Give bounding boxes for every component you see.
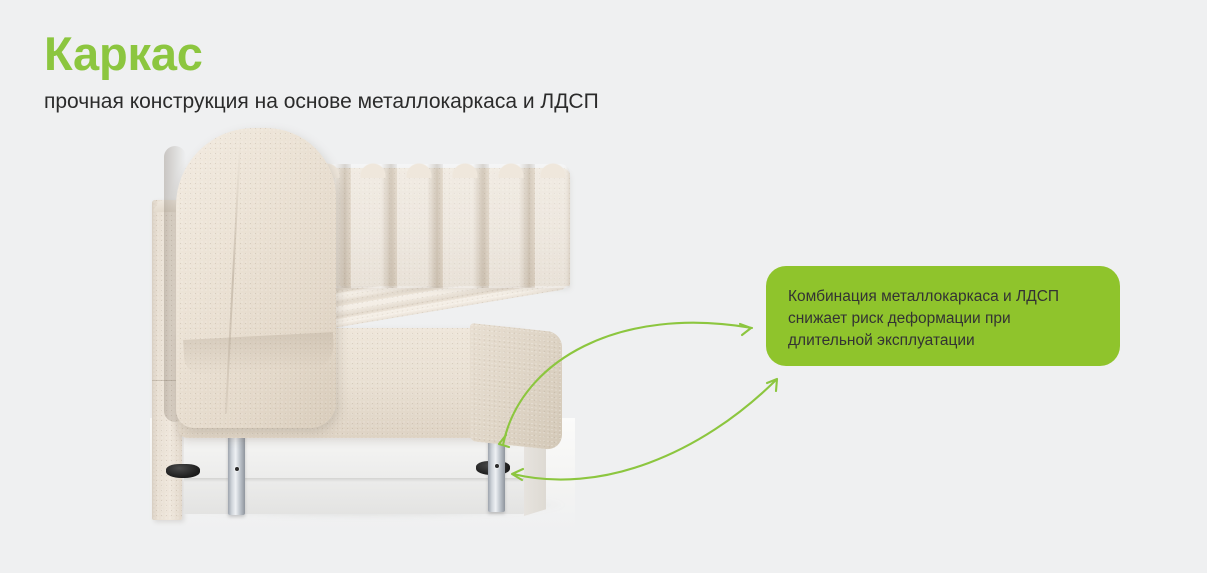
- arrow-lower-head-end: [767, 379, 777, 391]
- callout-box: Комбинация металлокаркаса и ЛДСП снижает…: [766, 266, 1120, 366]
- back-cushion: [176, 128, 336, 428]
- slide-canvas: Каркас прочная конструкция на основе мет…: [0, 0, 1207, 573]
- fabric-texture: [470, 323, 562, 451]
- fabric-texture: [176, 128, 336, 428]
- page-title: Каркас: [44, 26, 203, 82]
- seat-front-edge: [470, 323, 562, 451]
- backrest-scalloped-top: [305, 160, 570, 178]
- plastic-glide-left: [166, 464, 200, 478]
- page-subtitle: прочная конструкция на основе металлокар…: [44, 88, 599, 116]
- product-image: [140, 118, 580, 533]
- arrow-upper-head-end: [740, 324, 751, 335]
- backrest-channels: [305, 164, 570, 288]
- callout-text: Комбинация металлокаркаса и ЛДСП снижает…: [788, 286, 1096, 352]
